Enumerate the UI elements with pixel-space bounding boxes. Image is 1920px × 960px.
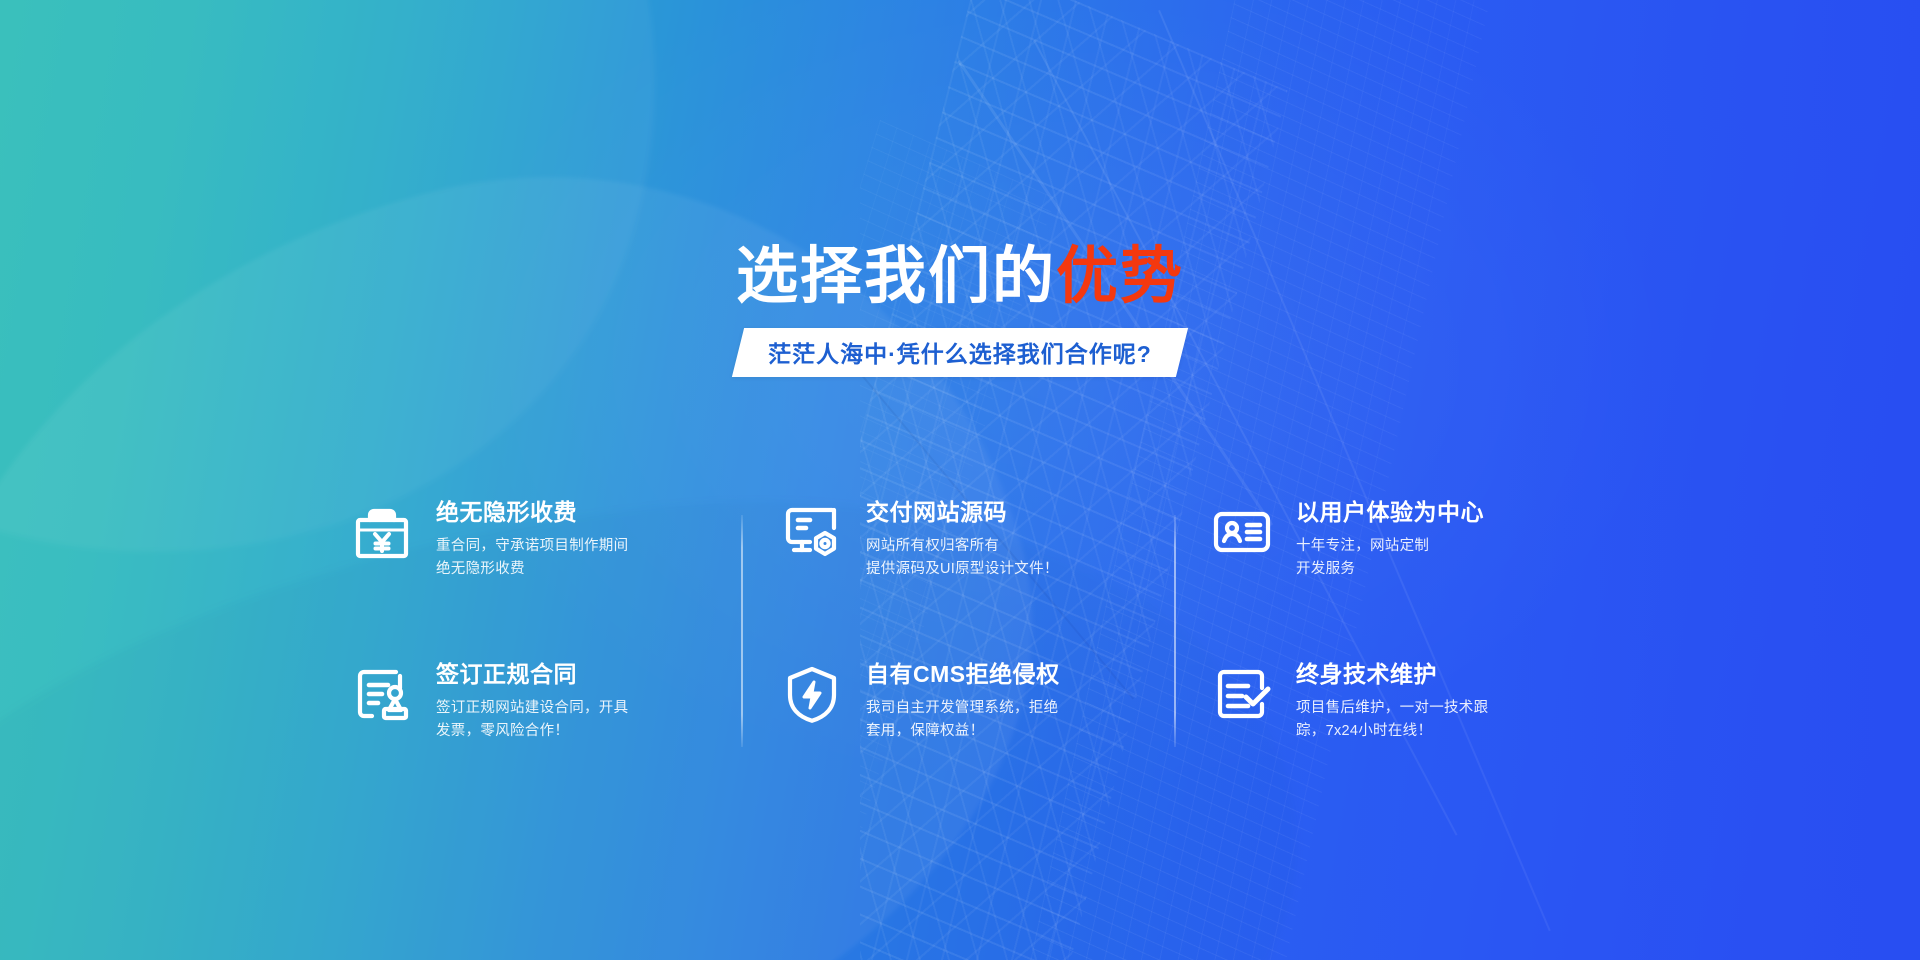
feature-body: 以用户体验为中心 十年专注，网站定制 开发服务 bbox=[1296, 498, 1484, 582]
feature-title: 终身技术维护 bbox=[1296, 662, 1488, 686]
feature-item-source-code-delivery[interactable]: 交付网站源码 网站所有权归客所有 提供源码及UI原型设计文件！ bbox=[780, 498, 1180, 582]
feature-title: 签订正规合同 bbox=[436, 662, 628, 686]
shield-bolt-icon bbox=[780, 662, 844, 726]
subtitle-ribbon-wrap: 茫茫人海中·凭什么选择我们合作呢? bbox=[0, 328, 1920, 377]
feature-body: 自有CMS拒绝侵权 我司自主开发管理系统，拒绝 套用，保障权益！ bbox=[866, 660, 1060, 744]
feature-item-formal-contract[interactable]: 签订正规合同 签订正规网站建设合同，开具 发票，零风险合作！ bbox=[350, 660, 750, 744]
source-code-monitor-icon bbox=[780, 500, 844, 564]
id-card-icon bbox=[1210, 500, 1274, 564]
feature-title: 交付网站源码 bbox=[866, 500, 1059, 524]
money-bag-icon bbox=[350, 500, 414, 564]
feature-body: 签订正规合同 签订正规网站建设合同，开具 发票，零风险合作！ bbox=[436, 660, 628, 744]
feature-item-lifetime-maintenance[interactable]: 终身技术维护 项目售后维护，一对一技术跟 踪，7x24小时在线！ bbox=[1210, 660, 1610, 744]
feature-item-own-cms[interactable]: 自有CMS拒绝侵权 我司自主开发管理系统，拒绝 套用，保障权益！ bbox=[780, 660, 1180, 744]
feature-body: 交付网站源码 网站所有权归客所有 提供源码及UI原型设计文件！ bbox=[866, 498, 1059, 582]
signed-contract-icon bbox=[350, 662, 414, 726]
feature-item-no-hidden-fees[interactable]: 绝无隐形收费 重合同，守承诺项目制作期间 绝无隐形收费 bbox=[350, 498, 750, 582]
banner-header: 选择我们的优势 茫茫人海中·凭什么选择我们合作呢? bbox=[0, 246, 1920, 377]
feature-description: 网站所有权归客所有 提供源码及UI原型设计文件！ bbox=[866, 535, 1059, 581]
promo-banner: 选择我们的优势 茫茫人海中·凭什么选择我们合作呢? bbox=[0, 0, 1920, 960]
feature-grid: 绝无隐形收费 重合同，守承诺项目制作期间 绝无隐形收费 交付网站源码 bbox=[350, 498, 1610, 822]
feature-description: 我司自主开发管理系统，拒绝 套用，保障权益！ bbox=[866, 697, 1060, 743]
feature-description: 十年专注，网站定制 开发服务 bbox=[1296, 535, 1484, 581]
feature-title: 自有CMS拒绝侵权 bbox=[866, 662, 1060, 686]
feature-item-user-experience[interactable]: 以用户体验为中心 十年专注，网站定制 开发服务 bbox=[1210, 498, 1610, 582]
feature-description: 签订正规网站建设合同，开具 发票，零风险合作！ bbox=[436, 697, 628, 743]
feature-body: 绝无隐形收费 重合同，守承诺项目制作期间 绝无隐形收费 bbox=[436, 498, 628, 582]
page-title-accent: 优势 bbox=[1056, 242, 1184, 311]
feature-title: 以用户体验为中心 bbox=[1296, 500, 1484, 524]
checklist-icon bbox=[1210, 662, 1274, 726]
feature-body: 终身技术维护 项目售后维护，一对一技术跟 踪，7x24小时在线！ bbox=[1296, 660, 1488, 744]
feature-description: 重合同，守承诺项目制作期间 绝无隐形收费 bbox=[436, 535, 628, 581]
feature-description: 项目售后维护，一对一技术跟 踪，7x24小时在线！ bbox=[1296, 697, 1488, 743]
page-title-main: 选择我们的 bbox=[736, 242, 1056, 311]
feature-title: 绝无隐形收费 bbox=[436, 500, 628, 524]
subtitle-text: 茫茫人海中·凭什么选择我们合作呢? bbox=[768, 335, 1152, 369]
page-title: 选择我们的优势 bbox=[0, 246, 1920, 308]
subtitle-ribbon: 茫茫人海中·凭什么选择我们合作呢? bbox=[732, 328, 1188, 377]
